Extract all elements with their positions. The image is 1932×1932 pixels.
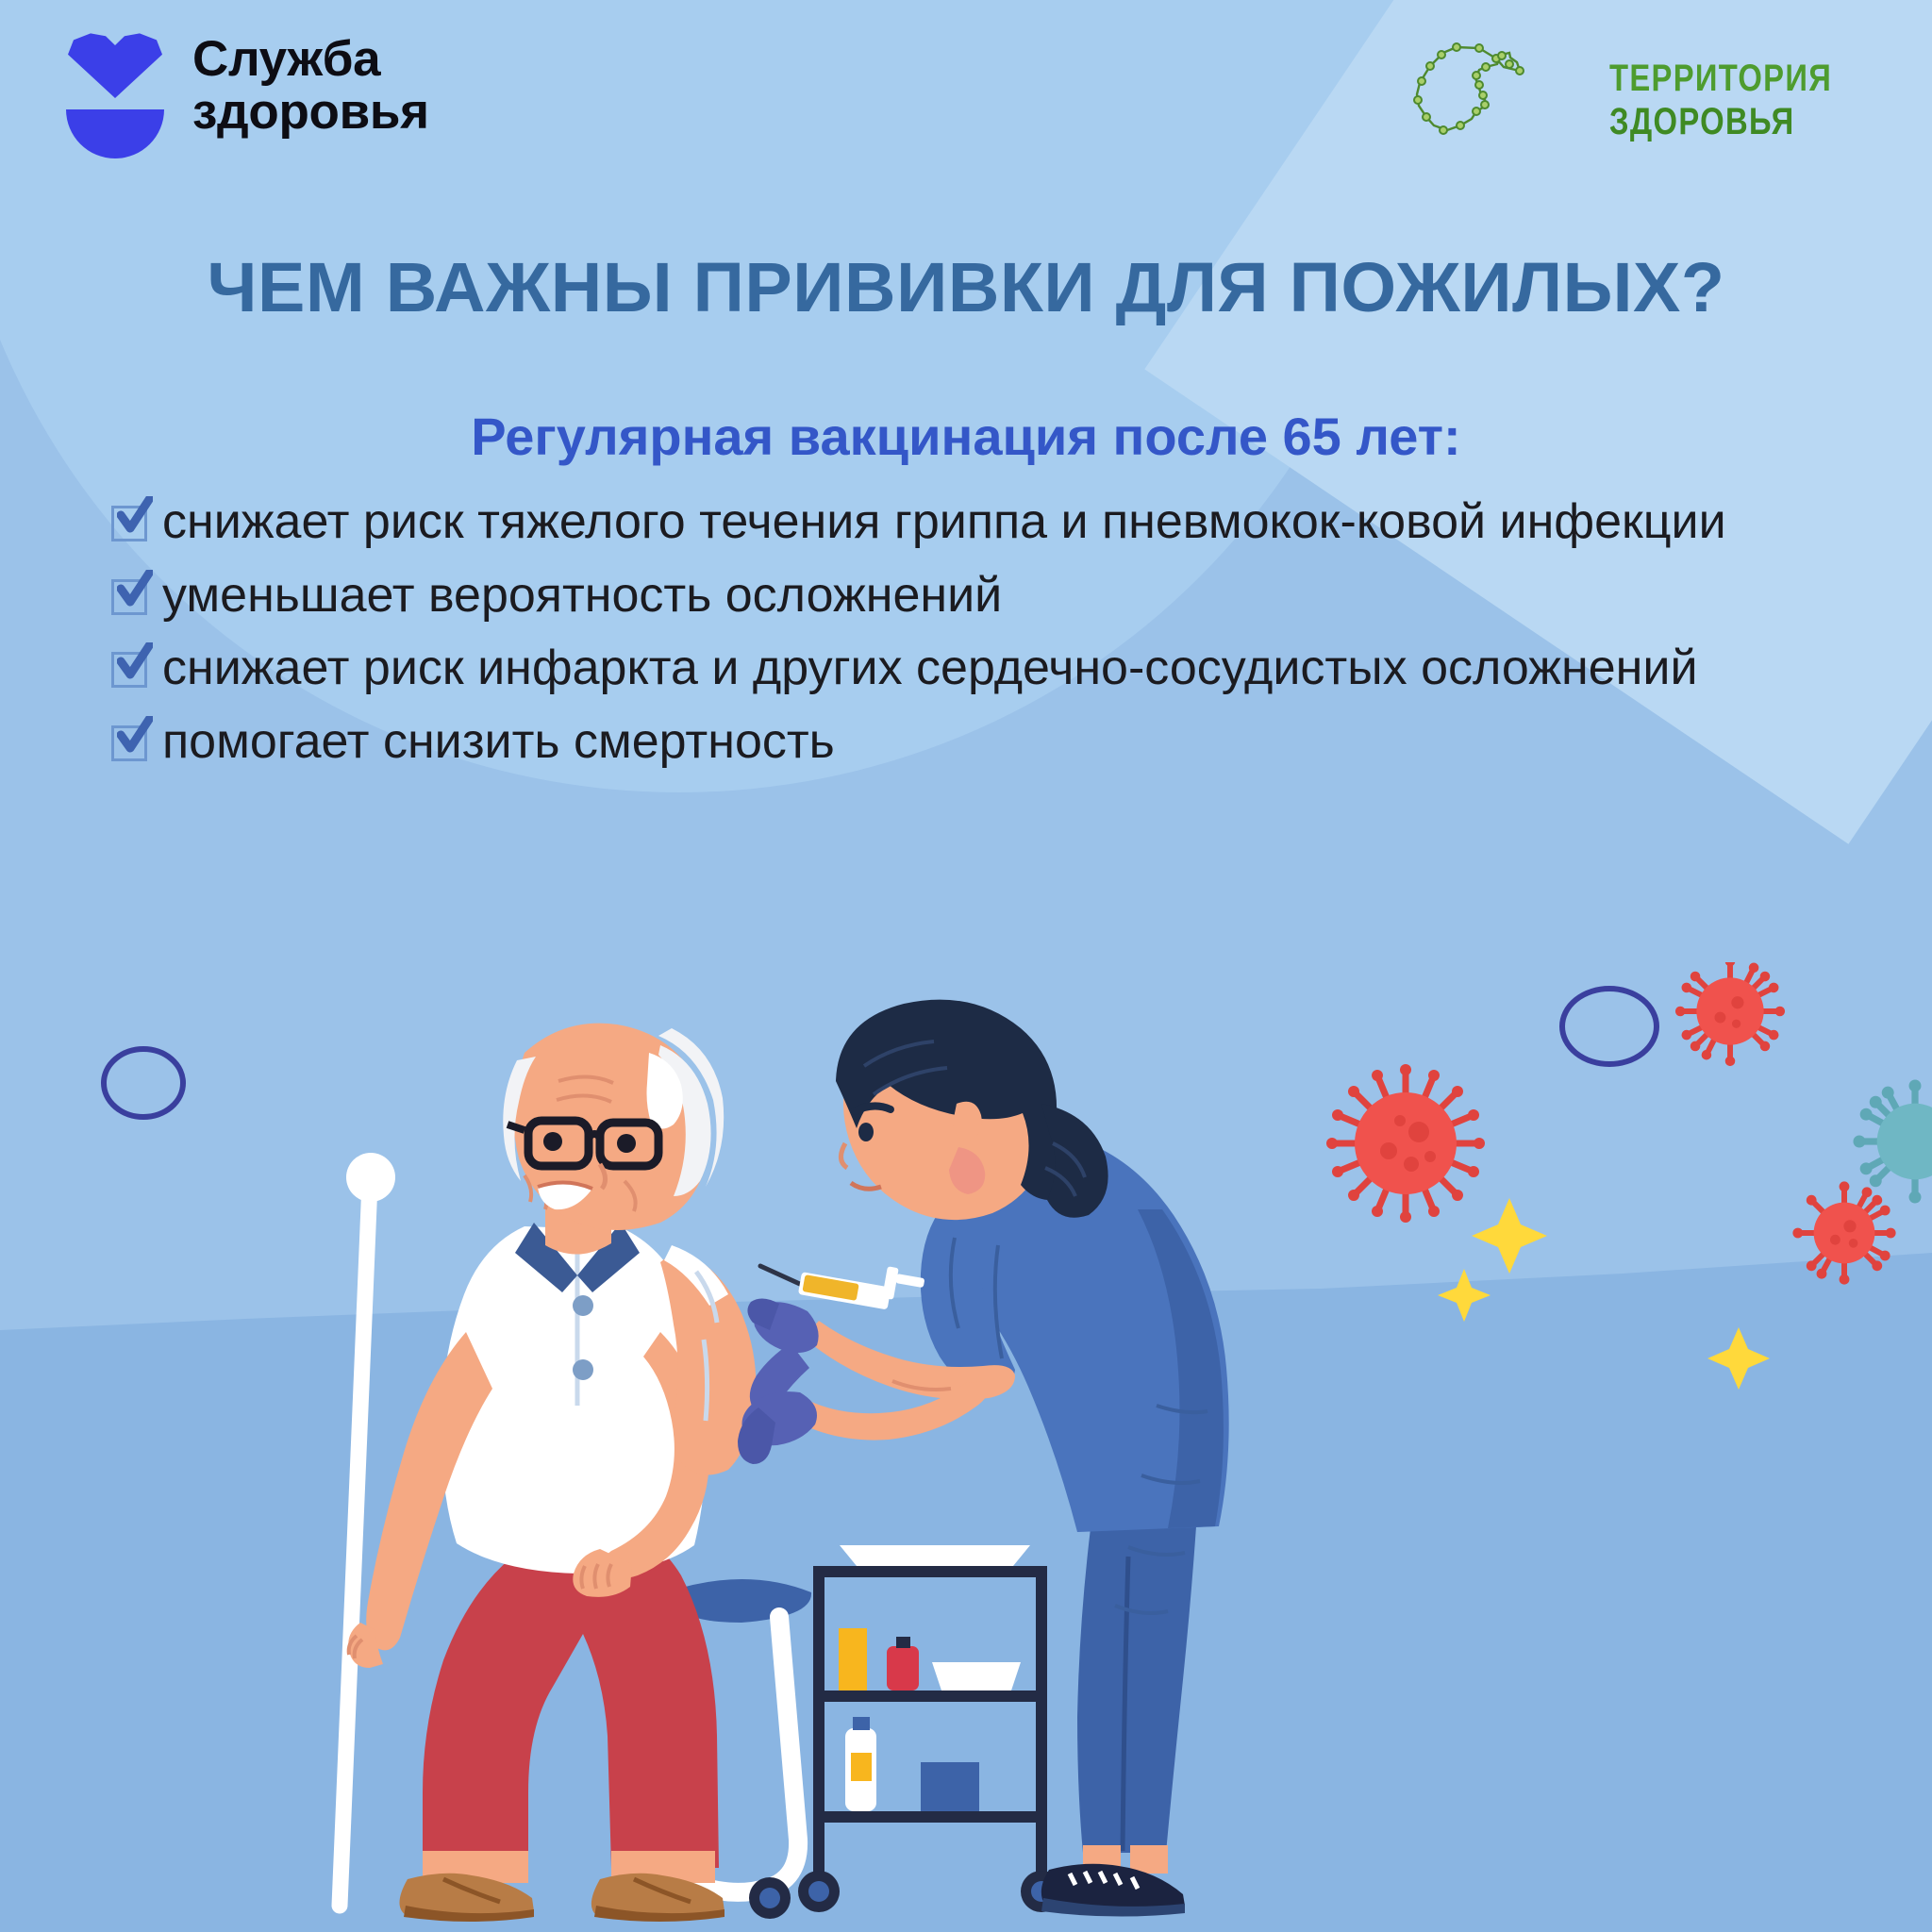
territory-health-line2: ЗДОРОВЬЯ: [1609, 103, 1832, 141]
virus-particle-red: [1326, 1064, 1485, 1223]
white-tray: [932, 1662, 1021, 1690]
yellow-box: [839, 1628, 867, 1690]
list-item: снижает риск тяжелого течения гриппа и п…: [111, 491, 1838, 555]
infographic-poster: Служба здоровья: [0, 0, 1932, 1932]
sparkle-icon: [1707, 1327, 1770, 1390]
heart-smile-logo-icon: [62, 28, 168, 143]
page-subtitle: Регулярная вакцинация после 65 лет:: [0, 406, 1932, 467]
white-bottle: [845, 1717, 876, 1811]
virus-particle-red: [1792, 1181, 1895, 1284]
checkbox-checked-icon: [111, 504, 149, 541]
territory-health-line1: ТЕРРИТОРИЯ: [1609, 59, 1832, 97]
list-item-label: уменьшает вероятность осложнений: [162, 568, 1002, 623]
blue-box: [921, 1762, 979, 1811]
stool-wheel: [749, 1877, 791, 1919]
virus-particle-teal: [1853, 1079, 1932, 1203]
service-logo: Служба здоровья: [62, 28, 429, 143]
list-item: снижает риск инфаркта и других сердечно-…: [111, 637, 1838, 701]
checkbox-checked-icon: [111, 577, 149, 615]
list-item-label: помогает снизить смертность: [162, 714, 835, 769]
nurse-administering-injection: [738, 1000, 1229, 1917]
red-bottle: [887, 1637, 919, 1690]
checkbox-checked-icon: [111, 724, 149, 761]
territory-health-logo: ТЕРРИТОРИЯ ЗДОРОВЬЯ: [1398, 26, 1881, 173]
blob-outline-left: [104, 1049, 183, 1117]
list-item: помогает снизить смертность: [111, 710, 1838, 774]
region-map-dots-icon: [1398, 26, 1596, 173]
elderly-man-seated: [348, 1024, 756, 1922]
list-item-label: снижает риск инфаркта и других сердечно-…: [162, 641, 1698, 695]
service-logo-label: Служба здоровья: [192, 33, 429, 139]
checkbox-checked-icon: [111, 650, 149, 688]
benefits-list: снижает риск тяжелого течения гриппа и п…: [111, 491, 1838, 783]
medical-trolley-cart: [798, 1545, 1062, 1912]
blob-outline-right: [1562, 989, 1657, 1064]
cart-wheel: [798, 1871, 840, 1912]
sparkle-icon: [1438, 1269, 1491, 1322]
vaccination-illustration: [0, 962, 1932, 1932]
list-item-label: снижает риск тяжелого течения гриппа и п…: [162, 494, 1726, 549]
page-title: ЧЕМ ВАЖНЫ ПРИВИВКИ ДЛЯ ПОЖИЛЫХ?: [0, 247, 1932, 327]
sparkle-icon: [1472, 1198, 1547, 1274]
list-item: уменьшает вероятность осложнений: [111, 564, 1838, 628]
virus-particle-red: [1675, 962, 1785, 1066]
